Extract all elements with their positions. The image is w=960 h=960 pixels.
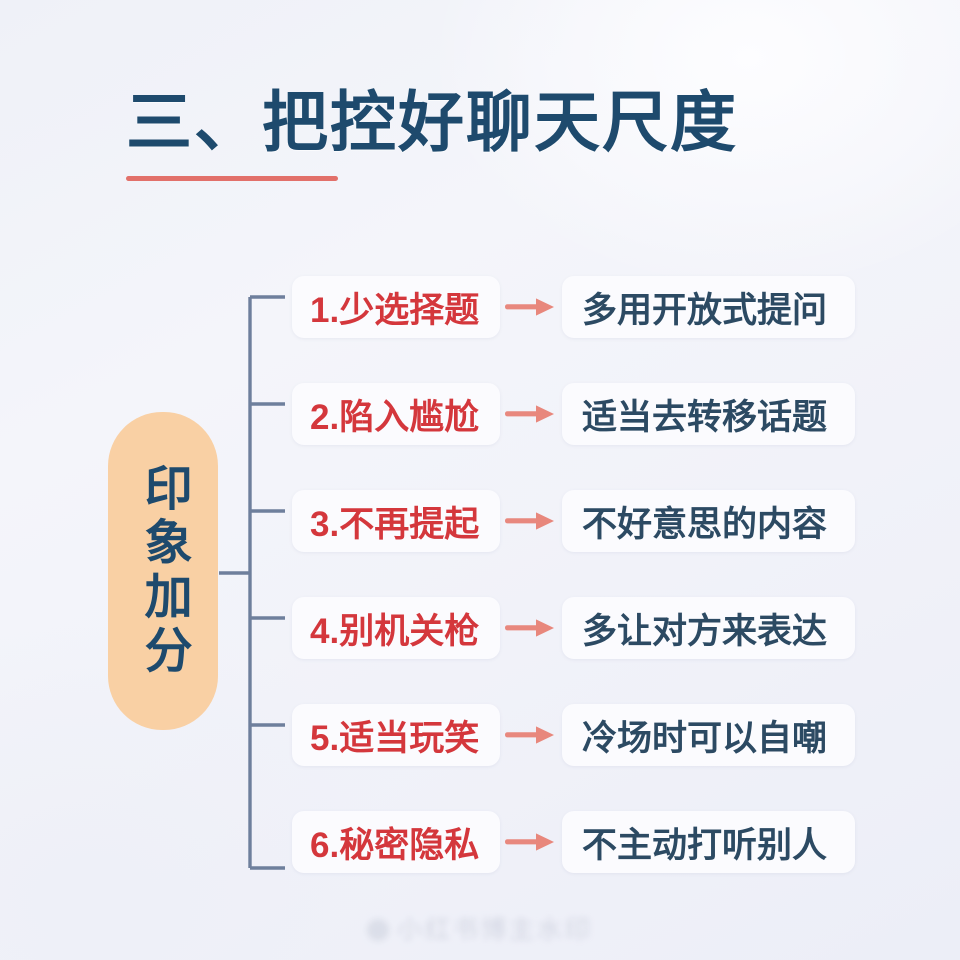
- anchor-label-text: 印象加分: [131, 463, 194, 679]
- advice-label: 冷场时可以自嘲: [582, 710, 827, 761]
- arrow-right-icon: [500, 597, 562, 659]
- topic-label: 1.少选择题: [310, 282, 479, 333]
- advice-label: 适当去转移话题: [582, 389, 827, 440]
- title-underline-rule: [126, 176, 338, 181]
- watermark-text: 小红书博主水印: [397, 916, 593, 944]
- list-item[interactable]: 1.少选择题 多用开放式提问: [292, 276, 892, 338]
- topic-card-3[interactable]: 3.不再提起: [292, 490, 500, 552]
- arrow-right-icon: [500, 811, 562, 873]
- arrow-right-icon: [500, 490, 562, 552]
- advice-card-2[interactable]: 适当去转移话题: [562, 383, 855, 445]
- advice-card-6[interactable]: 不主动打听别人: [562, 811, 855, 873]
- topic-card-6[interactable]: 6.秘密隐私: [292, 811, 500, 873]
- topic-label: 2.陷入尴尬: [310, 389, 479, 440]
- advice-card-5[interactable]: 冷场时可以自嘲: [562, 704, 855, 766]
- title-block: 三、把控好聊天尺度: [126, 86, 886, 181]
- list-item[interactable]: 4.别机关枪 多让对方来表达: [292, 597, 892, 659]
- arrow-right-icon: [500, 276, 562, 338]
- poster-canvas: 三、把控好聊天尺度 印象加分 1.少选择题: [0, 0, 960, 960]
- rows-list: 1.少选择题 多用开放式提问 2.陷入尴尬: [292, 276, 892, 873]
- topic-label: 4.别机关枪: [310, 603, 479, 654]
- watermark-avatar-icon: [367, 919, 389, 941]
- topic-card-1[interactable]: 1.少选择题: [292, 276, 500, 338]
- list-item[interactable]: 2.陷入尴尬 适当去转移话题: [292, 383, 892, 445]
- advice-card-3[interactable]: 不好意思的内容: [562, 490, 855, 552]
- advice-label: 多用开放式提问: [582, 282, 827, 333]
- advice-label: 多让对方来表达: [582, 603, 827, 654]
- advice-label: 不主动打听别人: [582, 817, 827, 868]
- topic-label: 3.不再提起: [310, 496, 479, 547]
- arrow-right-icon: [500, 704, 562, 766]
- topic-card-5[interactable]: 5.适当玩笑: [292, 704, 500, 766]
- list-item[interactable]: 5.适当玩笑 冷场时可以自嘲: [292, 704, 892, 766]
- topic-label: 6.秘密隐私: [310, 817, 479, 868]
- topic-label: 5.适当玩笑: [310, 710, 479, 761]
- watermark: 小红书博主水印: [0, 910, 960, 946]
- topic-card-2[interactable]: 2.陷入尴尬: [292, 383, 500, 445]
- list-item[interactable]: 6.秘密隐私 不主动打听别人: [292, 811, 892, 873]
- anchor-label-box: 印象加分: [108, 412, 218, 730]
- topic-card-4[interactable]: 4.别机关枪: [292, 597, 500, 659]
- advice-label: 不好意思的内容: [582, 496, 827, 547]
- page-title: 三、把控好聊天尺度: [126, 86, 886, 160]
- advice-card-1[interactable]: 多用开放式提问: [562, 276, 855, 338]
- advice-card-4[interactable]: 多让对方来表达: [562, 597, 855, 659]
- arrow-right-icon: [500, 383, 562, 445]
- list-item[interactable]: 3.不再提起 不好意思的内容: [292, 490, 892, 552]
